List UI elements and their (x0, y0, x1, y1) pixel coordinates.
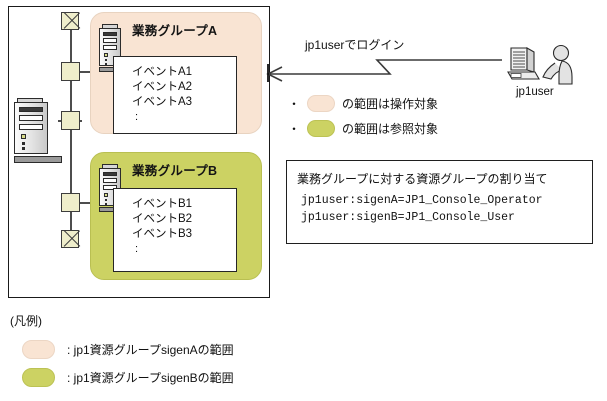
business-group-a-title: 業務グループA (132, 20, 217, 39)
tower-slot (103, 45, 117, 50)
legend-item-sigen-a: : jp1資源グループsigenAの範囲 (22, 340, 234, 359)
network-tap-icon (61, 193, 80, 212)
business-group-b-title: 業務グループB (132, 160, 217, 179)
user-label: jp1user (516, 86, 554, 98)
x-terminator-icon (61, 12, 79, 30)
tower-dot (105, 59, 107, 61)
tower-slot (19, 124, 43, 130)
assignment-line: jp1user:sigenB=JP1_Console_User (301, 211, 515, 224)
event-item: イベントA3 (132, 95, 236, 110)
tower-slot (103, 32, 117, 36)
x-terminator-icon (61, 230, 79, 248)
network-tap-icon (61, 111, 80, 130)
tower-slot (19, 115, 43, 121)
bullet-marker: ・ (288, 123, 300, 135)
event-item-ellipsis: : (132, 110, 236, 125)
tower-slot (19, 107, 43, 112)
event-item: イベントB1 (132, 197, 236, 212)
server-tower-icon (14, 98, 62, 166)
tower-slot (103, 178, 117, 183)
tower-led (21, 134, 26, 139)
event-list-group-b: イベントB1 イベントB2 イベントB3 : (113, 188, 237, 272)
tower-led (104, 53, 108, 57)
legend-title: (凡例) (10, 312, 42, 329)
diagram-canvas: 業務グループA イベントA1 イベントA2 イベントA3 : 業務グループB (0, 0, 607, 401)
assignment-title: 業務グループに対する資源グループの割り当て (297, 170, 548, 187)
legend-item-label: : jp1資源グループsigenBの範囲 (67, 369, 234, 386)
network-tap-icon (61, 62, 80, 81)
bullet-marker: ・ (288, 98, 300, 110)
tower-slot (103, 38, 117, 43)
tower-dot (22, 142, 25, 145)
assignment-box: 業務グループに対する資源グループの割り当て jp1user:sigenA=JP1… (286, 160, 593, 244)
event-item-ellipsis: : (132, 242, 236, 257)
legend-item-sigen-b: : jp1資源グループsigenBの範囲 (22, 368, 234, 387)
tower-dot (22, 147, 25, 150)
swatch-olive (22, 368, 55, 387)
tower-body (14, 102, 48, 154)
bullet-reference-scope: ・ の範囲は参照対象 (288, 120, 438, 137)
tower-led (104, 193, 108, 197)
swatch-olive (307, 120, 335, 137)
event-item: イベントB3 (132, 227, 236, 242)
tower-dot (105, 63, 107, 65)
swatch-peach (307, 95, 335, 112)
person-at-computer-icon (505, 44, 577, 86)
tower-dot (105, 203, 107, 205)
bullet-text: の範囲は参照対象 (342, 120, 438, 137)
event-item: イベントB2 (132, 212, 236, 227)
event-item: イベントA2 (132, 80, 236, 95)
legend-item-label: : jp1資源グループsigenAの範囲 (67, 341, 234, 358)
event-list-group-a: イベントA1 イベントA2 イベントA3 : (113, 56, 237, 134)
tower-slot (103, 172, 117, 176)
tower-base (14, 156, 62, 163)
bullet-text: の範囲は操作対象 (342, 95, 438, 112)
event-item: イベントA1 (132, 65, 236, 80)
login-label: jp1userでログイン (305, 36, 404, 53)
assignment-line: jp1user:sigenA=JP1_Console_Operator (301, 194, 543, 207)
left-arrow-icon (262, 52, 512, 82)
tower-dot (105, 199, 107, 201)
bullet-operation-scope: ・ の範囲は操作対象 (288, 95, 438, 112)
swatch-peach (22, 340, 55, 359)
